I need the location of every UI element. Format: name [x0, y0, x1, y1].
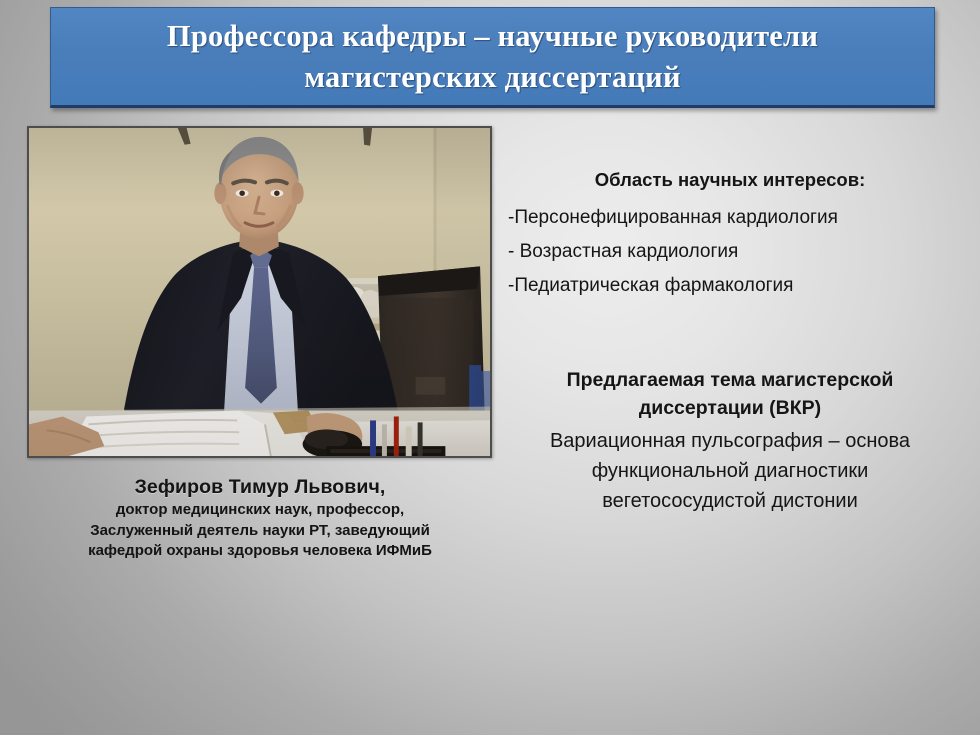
topic-heading-line-1: Предлагаемая тема магистерской [567, 369, 894, 391]
topic-text-line-2: функциональной диагностики [592, 460, 869, 482]
research-interests-block: Область научных интересов: -Персонефицир… [500, 168, 960, 303]
caption-line-3: кафедрой охраны здоровья человека ИФМиБ [14, 541, 506, 562]
proposed-topic-block: Предлагаемая тема магистерской диссертац… [500, 366, 960, 516]
proposed-topic-text: Вариационная пульсография – основа функц… [500, 426, 960, 516]
title-banner: Профессора кафедры – научные руководител… [50, 7, 935, 108]
professor-photo-image [29, 128, 490, 456]
professor-photo [27, 126, 492, 458]
photo-caption: Зефиров Тимур Львович, доктор медицински… [14, 474, 506, 562]
title-line-2: магистерских диссертаций [304, 60, 681, 94]
research-interests-heading: Область научных интересов: [500, 168, 960, 192]
topic-heading-line-2: диссертации (ВКР) [639, 397, 821, 419]
title-line-1: Профессора кафедры – научные руководител… [167, 19, 818, 53]
slide-canvas: Профессора кафедры – научные руководител… [0, 0, 980, 735]
caption-line-2: Заслуженный деятель науки РТ, заведующий [14, 521, 506, 542]
page-title: Профессора кафедры – научные руководител… [153, 16, 832, 98]
professor-name: Зефиров Тимур Львович, [14, 474, 506, 500]
research-interest-item: - Возрастная кардиология [500, 235, 960, 269]
research-interest-item: -Педиатрическая фармакология [500, 269, 960, 303]
topic-text-line-3: вегетососудистой дистонии [602, 490, 858, 512]
research-interest-item: -Персонефицированная кардиология [500, 201, 960, 235]
topic-text-line-1: Вариационная пульсография – основа [550, 430, 910, 452]
proposed-topic-heading: Предлагаемая тема магистерской диссертац… [500, 366, 960, 422]
caption-line-1: доктор медицинских наук, профессор, [14, 500, 506, 521]
